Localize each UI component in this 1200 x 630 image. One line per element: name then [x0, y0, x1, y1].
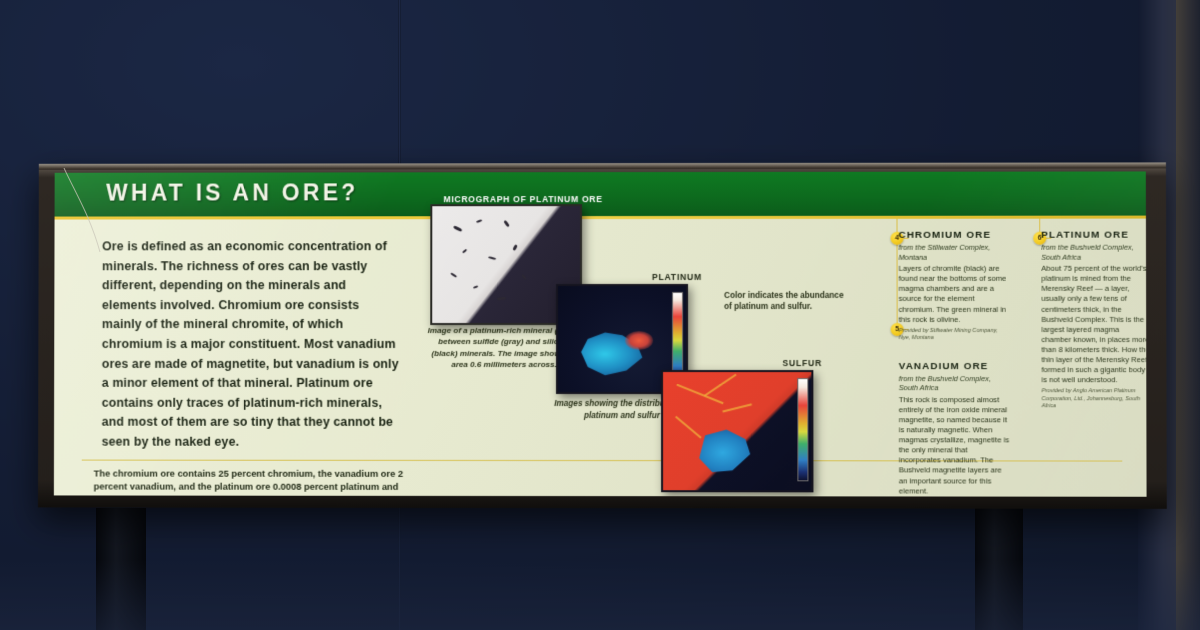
sulfur-map-label: SULFUR [742, 358, 862, 368]
floor-glow [0, 560, 1200, 630]
page-title: WHAT IS AN ORE? [106, 179, 358, 206]
ore-title-chromium: CHROMIUM ORE [899, 230, 1010, 241]
ore-origin-vanadium: from the Bushveld Complex, South Africa [899, 374, 1010, 393]
ore-text-platinum: About 75 percent of the world's platinum… [1041, 264, 1146, 386]
ore-column-right: PLATINUM ORE from the Bushveld Complex, … [1041, 230, 1146, 429]
sulfur-low-abundance-zone [696, 429, 755, 476]
ore-percentage-footnote: The chromium ore contains 25 percent chr… [94, 467, 408, 497]
ore-origin-platinum: from the Bushveld Complex, South Africa [1041, 243, 1146, 262]
ore-text-vanadium: This rock is composed almost entirely of… [899, 395, 1010, 496]
frame-top-highlight [39, 162, 1166, 169]
badge-connector-line-5 [897, 245, 898, 325]
platinum-map-label: PLATINUM [612, 272, 742, 282]
ore-entry-vanadium: VANADIUM ORE from the Bushveld Complex, … [899, 361, 1010, 497]
sulfur-map-image [663, 372, 811, 490]
exhibit-panel-frame: WHAT IS AN ORE? Ore is defined as an eco… [38, 162, 1167, 508]
color-abundance-note: Color indicates the abundance of platinu… [724, 290, 850, 313]
ore-column-middle: CHROMIUM ORE from the Stillwater Complex… [899, 230, 1010, 497]
wall-corner-edge [1176, 0, 1200, 630]
wall-seam [398, 0, 401, 170]
exhibit-panel: WHAT IS AN ORE? Ore is defined as an eco… [54, 171, 1147, 496]
platinum-high-abundance-zone [625, 331, 653, 350]
ore-title-vanadium: VANADIUM ORE [899, 361, 1010, 372]
ore-entry-chromium: CHROMIUM ORE from the Stillwater Complex… [899, 230, 1010, 343]
ore-definition-text: Ore is defined as an economic concentrat… [102, 237, 401, 452]
micrograph-label: MICROGRAPH OF PLATINUM ORE [438, 194, 608, 204]
ore-credit-platinum: Provided by Anglo American Platinum Corp… [1042, 388, 1147, 410]
ore-title-platinum: PLATINUM ORE [1041, 230, 1146, 241]
ore-text-chromium: Layers of chromite (black) are found nea… [899, 264, 1010, 325]
ore-origin-chromium: from the Stillwater Complex, Montana [899, 243, 1010, 262]
ore-entry-platinum: PLATINUM ORE from the Bushveld Complex, … [1041, 230, 1146, 411]
sulfur-map-photo [661, 370, 813, 492]
ore-credit-chromium: Provided by Stillwater Mining Company, N… [899, 328, 1010, 343]
sulfur-color-scale-bar [797, 378, 808, 482]
